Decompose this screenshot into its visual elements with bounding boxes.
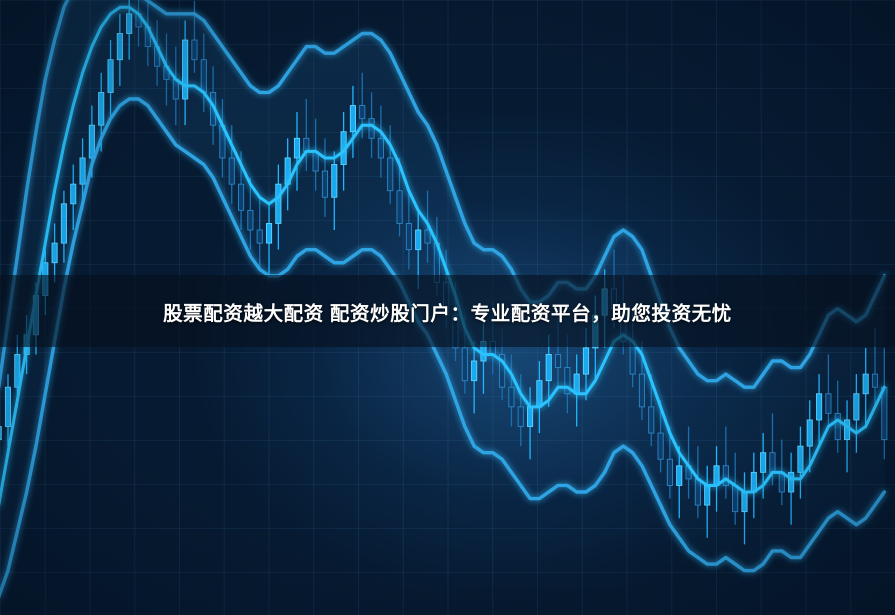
- headline-text: 股票配资越大配资 配资炒股门户：专业配资平台，助您投资无忧: [163, 297, 732, 326]
- headline-banner: 股票配资越大配资 配资炒股门户：专业配资平台，助您投资无忧: [0, 275, 895, 347]
- stock-chart-image: 股票配资越大配资 配资炒股门户：专业配资平台，助您投资无忧: [0, 0, 895, 615]
